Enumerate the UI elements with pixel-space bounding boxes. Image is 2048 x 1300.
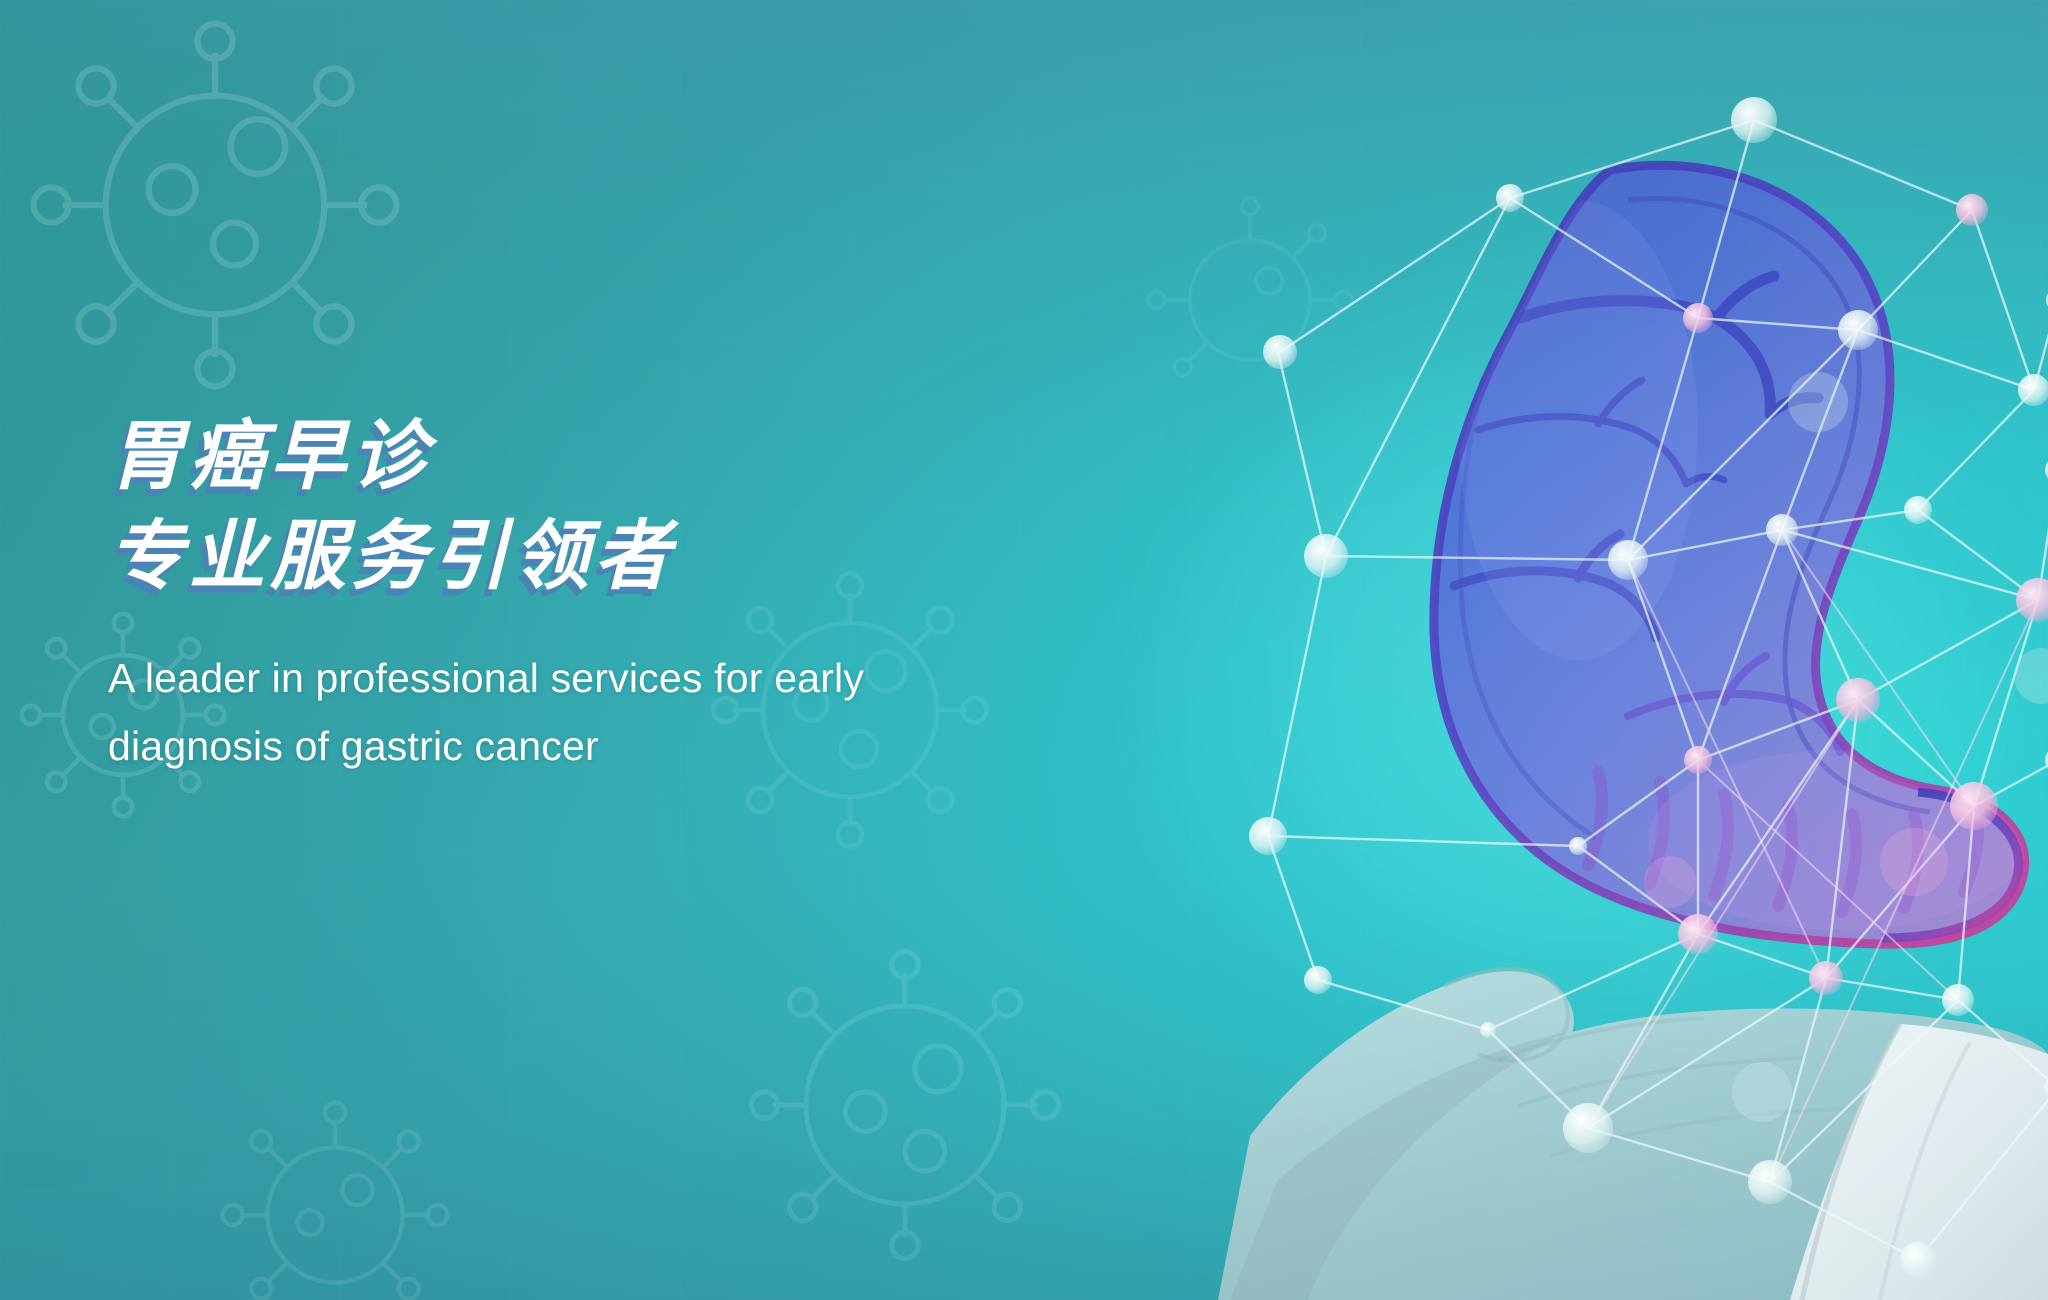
headline-line-2: 专业服务引领者 (108, 508, 1168, 606)
subheadline-line-2: diagnosis of gastric cancer (108, 712, 1118, 780)
hero-artwork (1158, 0, 2048, 1300)
subheadline-line-1: A leader in professional services for ea… (108, 644, 1118, 712)
hero-copy-block: 胃癌早诊 专业服务引领者 A leader in professional se… (108, 408, 1168, 780)
headline-line-1: 胃癌早诊 (108, 408, 1168, 506)
stomach-illustration (1434, 165, 2028, 944)
hero-banner: 胃癌早诊 专业服务引领者 A leader in professional se… (0, 0, 2048, 1300)
subheadline: A leader in professional services for ea… (108, 644, 1118, 780)
